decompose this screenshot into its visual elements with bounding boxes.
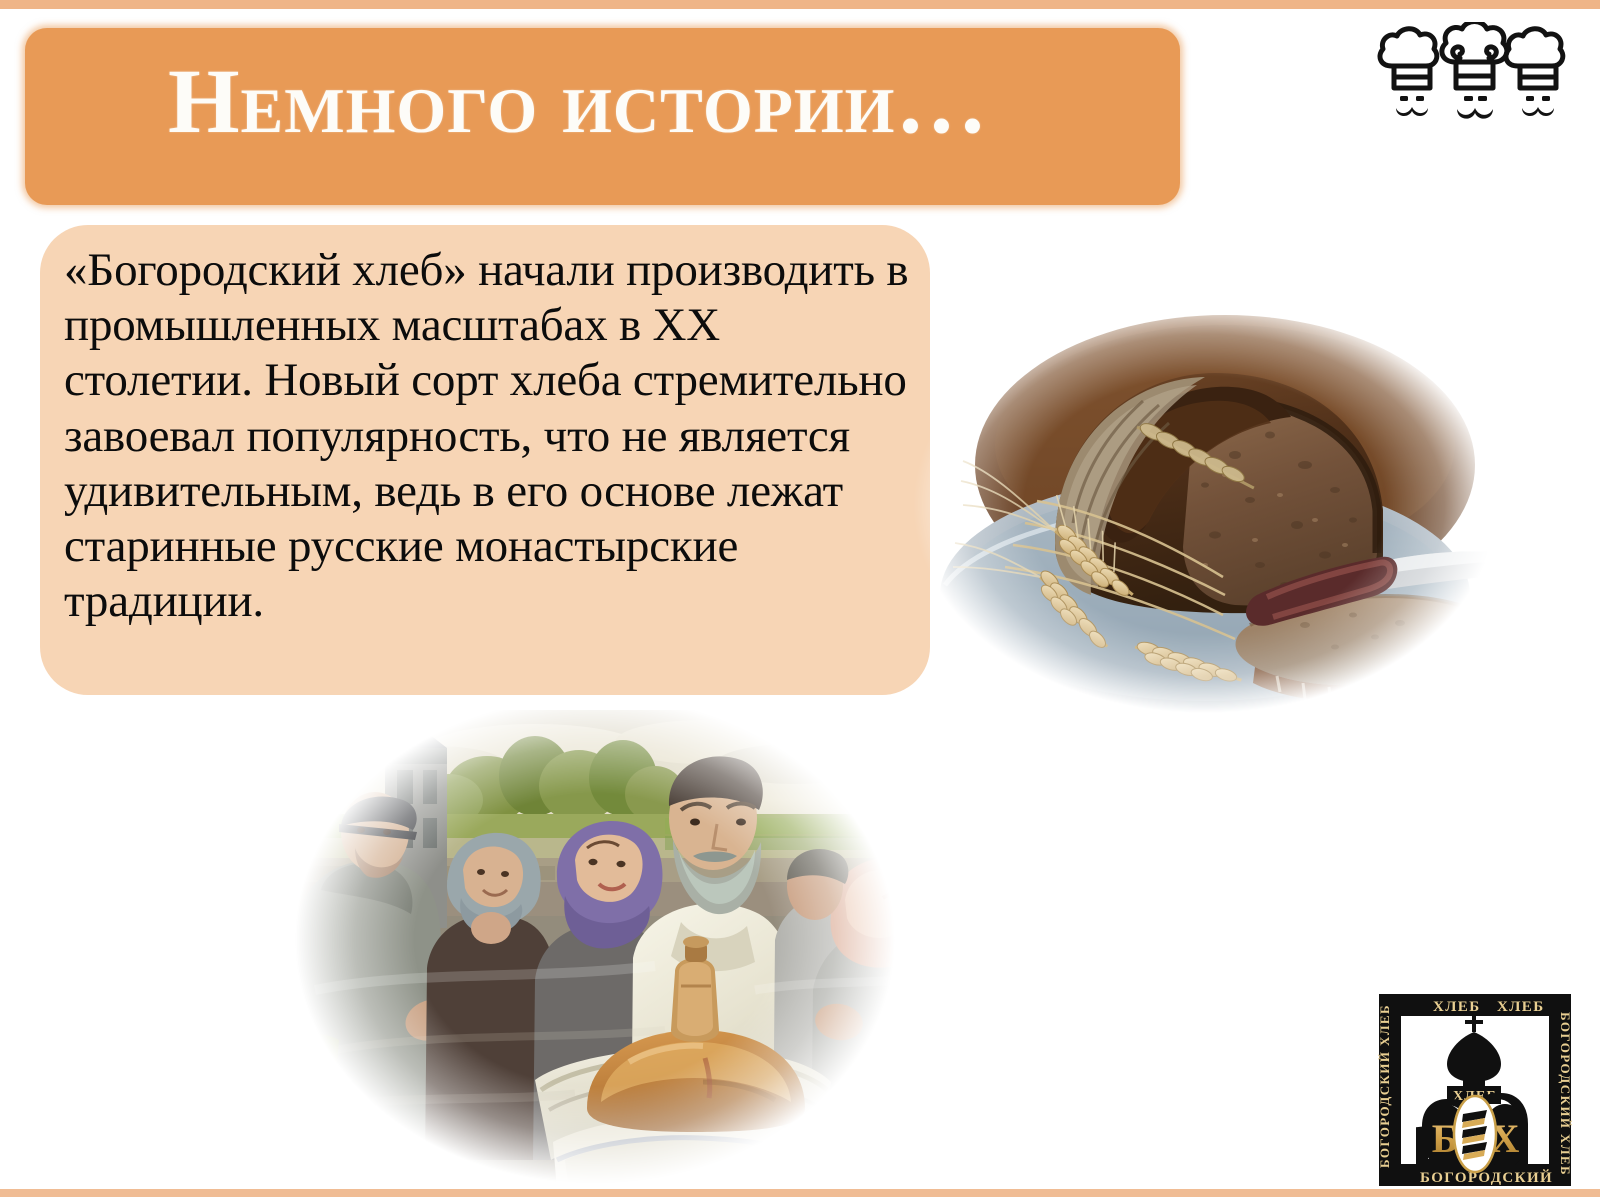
page-title: Немного истории… [168,52,988,151]
logo-bottom-word: БОГОРОДСКИЙ [1420,1169,1553,1186]
body-text-card: «Богородский хлеб» начали производить в … [40,225,930,695]
chef-hats-icon [1372,22,1572,127]
bogorodsky-hleb-logo: ХЛЕБ ХЛЕБ БОГОРОДСКИЙ БОГОРОДСКИЙ ХЛЕБ Б… [1375,990,1575,1190]
logo-left-side-word: БОГОРОДСКИЙ ХЛЕБ [1377,1004,1392,1168]
presentation-slide: Немного истории… [0,0,1600,1200]
bread-and-salt-painting [235,690,955,1190]
body-paragraph: «Богородский хлеб» начали производить в … [64,243,909,630]
top-accent-strip [0,0,1600,9]
logo-top-right-word: ХЛЕБ [1497,999,1545,1015]
logo-right-side-word: БОГОРОДСКИЙ ХЛЕБ [1558,1012,1573,1176]
bottom-accent-strip [0,1189,1600,1197]
sliced-rye-bread-photo [905,295,1505,715]
logo-top-left-word: ХЛЕБ [1433,999,1481,1015]
